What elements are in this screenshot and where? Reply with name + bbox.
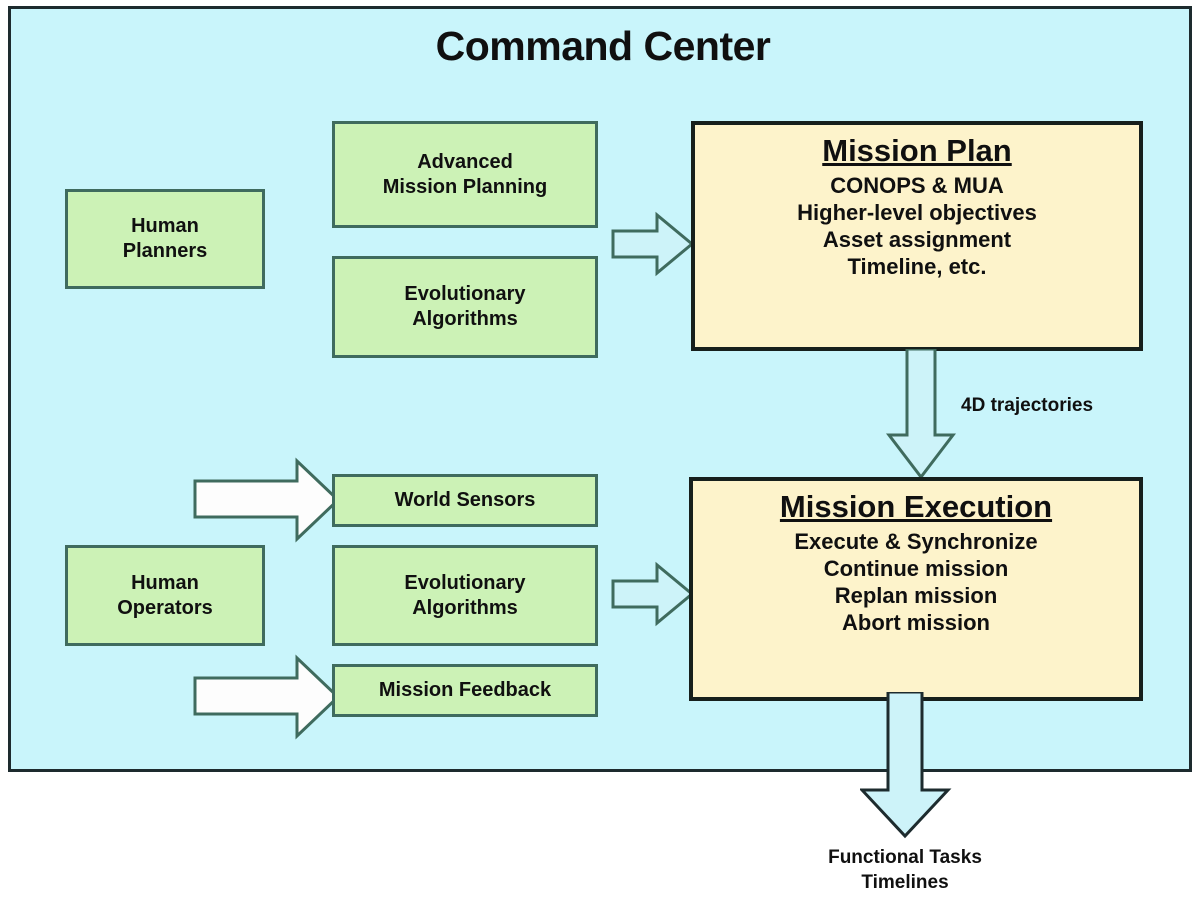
mission-execution-title: Mission Execution (693, 487, 1139, 526)
node-human-operators[interactable]: Human Operators (65, 545, 265, 646)
node-human-planners[interactable]: Human Planners (65, 189, 265, 289)
output-label: Functional Tasks Timelines (770, 846, 1040, 895)
human-planners-label-line1: Human (131, 214, 199, 239)
label-4d-trajectories: 4D trajectories (961, 394, 1093, 419)
mission-execution-line-4: Abort mission (693, 609, 1139, 636)
human-operators-label-line1: Human (131, 571, 199, 596)
arrow-planning-to-mission-plan (611, 209, 695, 279)
world-sensors-label: World Sensors (395, 488, 536, 513)
arrow-mission-plan-to-execution (881, 349, 961, 481)
node-evolutionary-algorithms-planning[interactable]: Evolutionary Algorithms (332, 256, 598, 358)
evolutionary-algorithms-planning-label-line2: Algorithms (412, 307, 518, 332)
advanced-mission-planning-label-line2: Mission Planning (383, 175, 547, 200)
node-mission-feedback[interactable]: Mission Feedback (332, 664, 598, 717)
mission-execution-line-2: Continue mission (693, 555, 1139, 582)
node-mission-plan[interactable]: Mission Plan CONOPS & MUA Higher-level o… (691, 121, 1143, 351)
mission-plan-line-1: CONOPS & MUA (695, 172, 1139, 199)
mission-execution-line-1: Execute & Synchronize (693, 528, 1139, 555)
evolutionary-algorithms-planning-label-line1: Evolutionary (404, 282, 525, 307)
command-center-panel: Command Center Human Planners Advanced M… (8, 6, 1192, 772)
human-planners-label-line2: Planners (123, 239, 207, 264)
mission-plan-line-3: Asset assignment (695, 226, 1139, 253)
page-title: Command Center (11, 23, 1195, 70)
node-evolutionary-algorithms-execution[interactable]: Evolutionary Algorithms (332, 545, 598, 646)
evolutionary-algorithms-execution-label-line2: Algorithms (412, 596, 518, 621)
mission-plan-line-2: Higher-level objectives (695, 199, 1139, 226)
human-operators-label-line2: Operators (117, 596, 213, 621)
evolutionary-algorithms-execution-label-line1: Evolutionary (404, 571, 525, 596)
arrow-inputs-to-mission-execution (611, 559, 695, 629)
output-label-line1: Functional Tasks (770, 846, 1040, 871)
arrow-mission-execution-output (860, 692, 970, 840)
advanced-mission-planning-label-line1: Advanced (417, 150, 513, 175)
diagram-canvas: Command Center Human Planners Advanced M… (0, 0, 1203, 924)
node-advanced-mission-planning[interactable]: Advanced Mission Planning (332, 121, 598, 228)
mission-execution-line-3: Replan mission (693, 582, 1139, 609)
arrow-input-mission-feedback (193, 654, 341, 740)
mission-plan-line-4: Timeline, etc. (695, 253, 1139, 280)
arrow-input-world-sensors (193, 457, 341, 543)
output-label-line2: Timelines (770, 871, 1040, 896)
mission-feedback-label: Mission Feedback (379, 678, 551, 703)
node-mission-execution[interactable]: Mission Execution Execute & Synchronize … (689, 477, 1143, 701)
mission-plan-title: Mission Plan (695, 131, 1139, 170)
node-world-sensors[interactable]: World Sensors (332, 474, 598, 527)
